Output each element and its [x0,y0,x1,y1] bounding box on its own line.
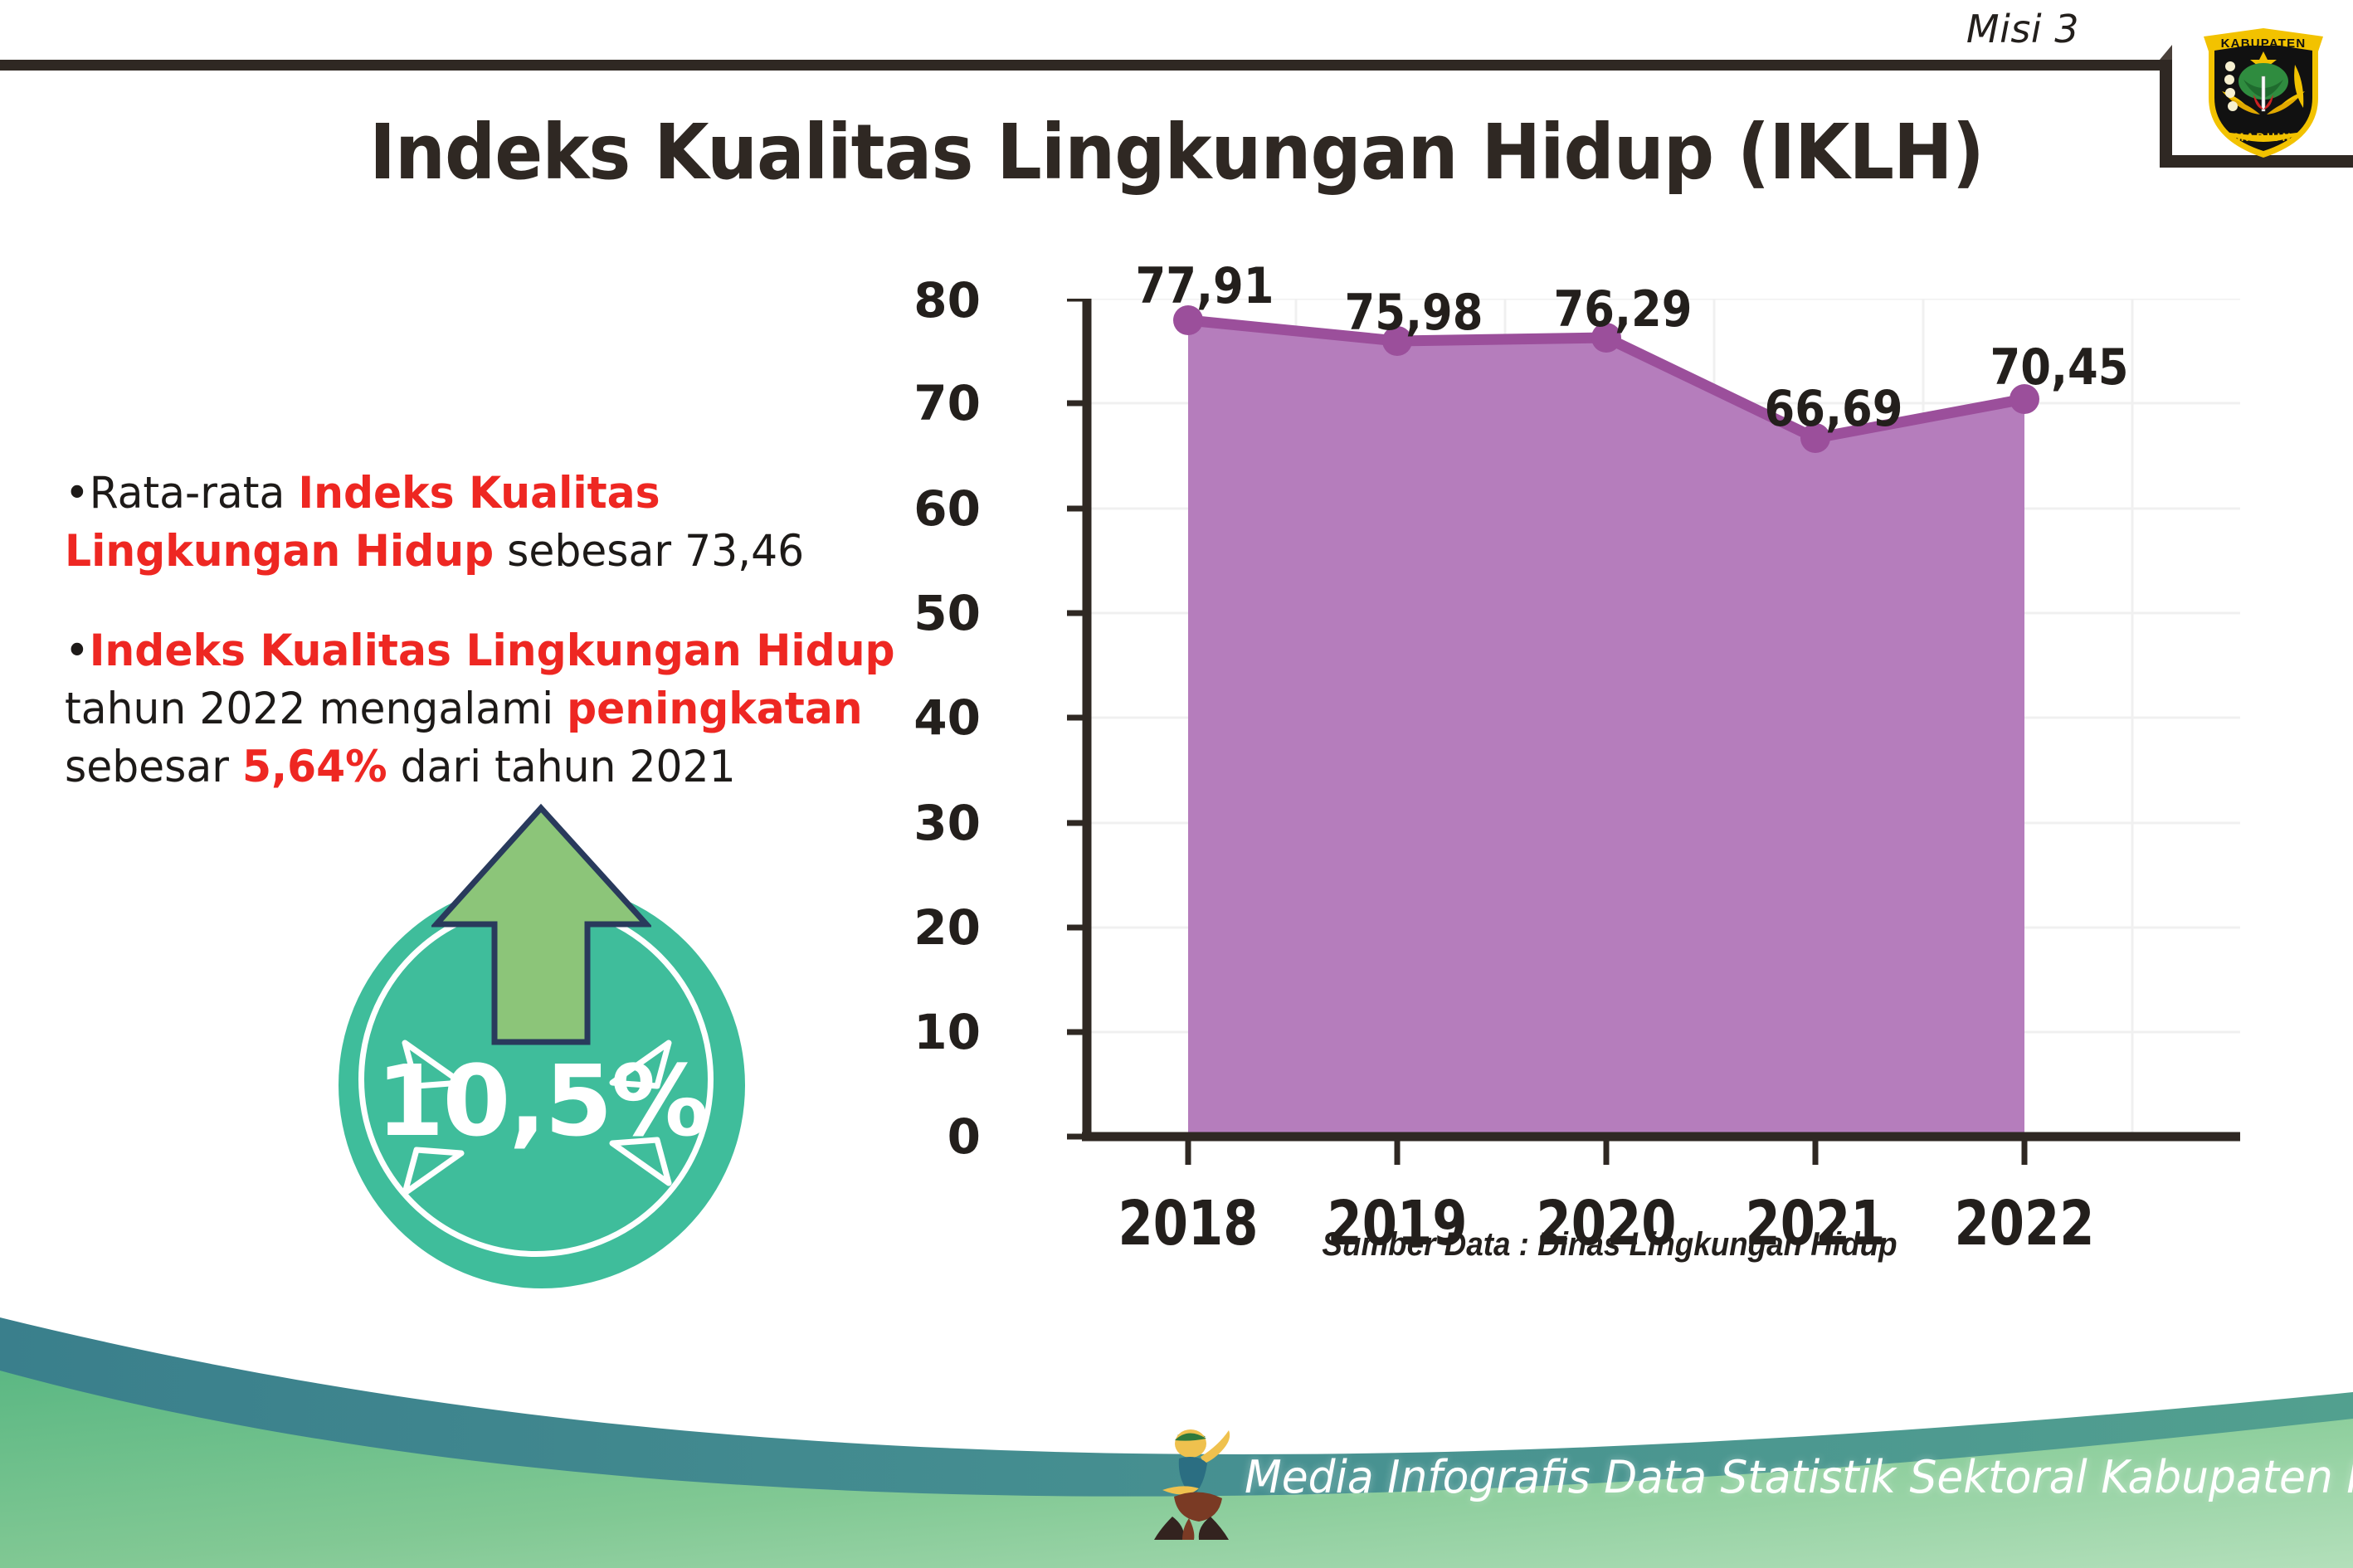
footer-caption: Media Infografis Data Statistik Sektoral… [1245,1451,2353,1503]
y-tick-label: 30 [913,795,981,851]
y-tick-label: 20 [913,899,981,956]
bullet-2-highlight-1: Indeks Kualitas Lingkungan Hidup [90,626,895,676]
chart-source-caption: Sumber Data : Dinas Lingkungan Hidup [1030,1226,2190,1264]
bullet-glyph: • [65,626,90,676]
data-label-2018: 77,91 [1135,257,1274,315]
y-tick-label: 70 [913,375,981,431]
chart-area-fill [1188,320,2024,1137]
data-label-2020: 76,29 [1553,280,1692,338]
bullet-1-post: sebesar 73,46 [494,526,804,577]
dancer-figure-icon [1149,1420,1249,1545]
bullet-1-pre: Rata-rata [90,468,299,519]
bullet-2-mid-2: sebesar [65,742,242,792]
y-tick-label: 80 [913,272,981,329]
misi-label: Misi 3 [1966,7,2079,51]
badge-percentage-value: 10,5% [330,1044,753,1158]
bullet-2-highlight-2: peningkatan [567,684,863,734]
chart-plot [979,299,2240,1178]
data-label-2019: 75,98 [1344,284,1483,342]
y-tick-label: 60 [913,480,981,537]
y-tick-label: 0 [948,1108,981,1165]
data-label-2021: 66,69 [1764,380,1902,438]
up-arrow-icon [431,803,651,1048]
summary-text-panel: •Rata-rata Indeks Kualitas Lingkungan Hi… [65,465,994,838]
svg-text:KABUPATEN: KABUPATEN [2221,37,2307,51]
bullet-item-average: •Rata-rata Indeks Kualitas Lingkungan Hi… [65,465,948,581]
y-tick-label: 10 [913,1004,981,1060]
bullet-2-post: dari tahun 2021 [387,742,736,792]
data-label-2022: 70,45 [1990,338,2128,397]
bullet-glyph: • [65,468,90,519]
iklh-area-chart: 0 10 20 30 40 50 60 70 80 2018 2019 2020… [979,299,2240,1178]
header-divider-rule [0,60,2165,71]
increase-badge: 10,5% [330,803,745,1210]
bullet-2-highlight-3: 5,64% [242,742,387,792]
y-tick-label: 50 [913,585,981,641]
bullet-item-increase: •Indeks Kualitas Lingkungan Hidup tahun … [65,622,948,796]
bullet-2-mid-1: tahun 2022 mengalami [65,684,567,734]
y-tick-label: 40 [913,689,981,746]
page-title: Indeks Kualitas Lingkungan Hidup (IKLH) [82,108,2270,197]
